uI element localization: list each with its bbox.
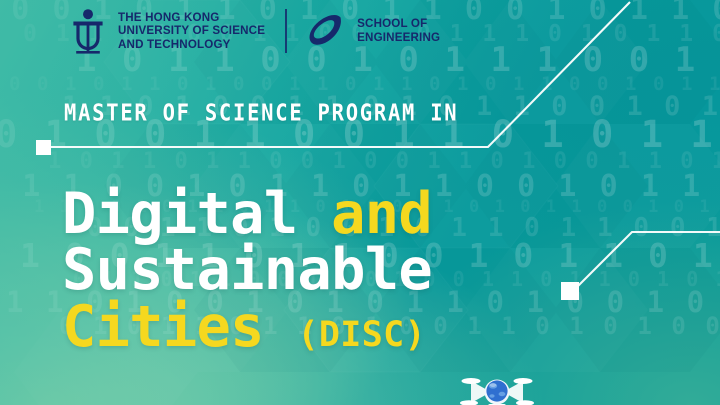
soe-wordmark: SCHOOL OF ENGINEERING [357, 17, 440, 44]
hkust-logo: THE HONG KONG UNIVERSITY OF SCIENCE AND … [70, 8, 265, 54]
hkust-shield-icon [70, 8, 106, 54]
page-title: Digital and Sustainable Cities (DISC) [62, 186, 432, 355]
logo-divider [285, 9, 287, 53]
soe-swirl-icon [307, 14, 347, 48]
drone-globe-icon [458, 372, 536, 405]
title-line-3: Cities (DISC) [62, 299, 432, 355]
poster-canvas: 1 0 0 1 0 1 1 0 1 0 1 1 0 0 1 0 1 1 0 1 … [0, 0, 720, 405]
title-line-2: Sustainable [62, 242, 432, 298]
hkust-wordmark: THE HONG KONG UNIVERSITY OF SCIENCE AND … [118, 11, 265, 52]
school-of-engineering-logo: SCHOOL OF ENGINEERING [307, 14, 440, 48]
title-line-1: Digital and [62, 186, 432, 242]
title-abbreviation: (DISC) [297, 315, 426, 355]
title-word-cities: Cities [62, 294, 297, 360]
header-logo-lockup: THE HONG KONG UNIVERSITY OF SCIENCE AND … [70, 8, 440, 54]
program-kicker: MASTER OF SCIENCE PROGRAM IN [64, 99, 458, 126]
